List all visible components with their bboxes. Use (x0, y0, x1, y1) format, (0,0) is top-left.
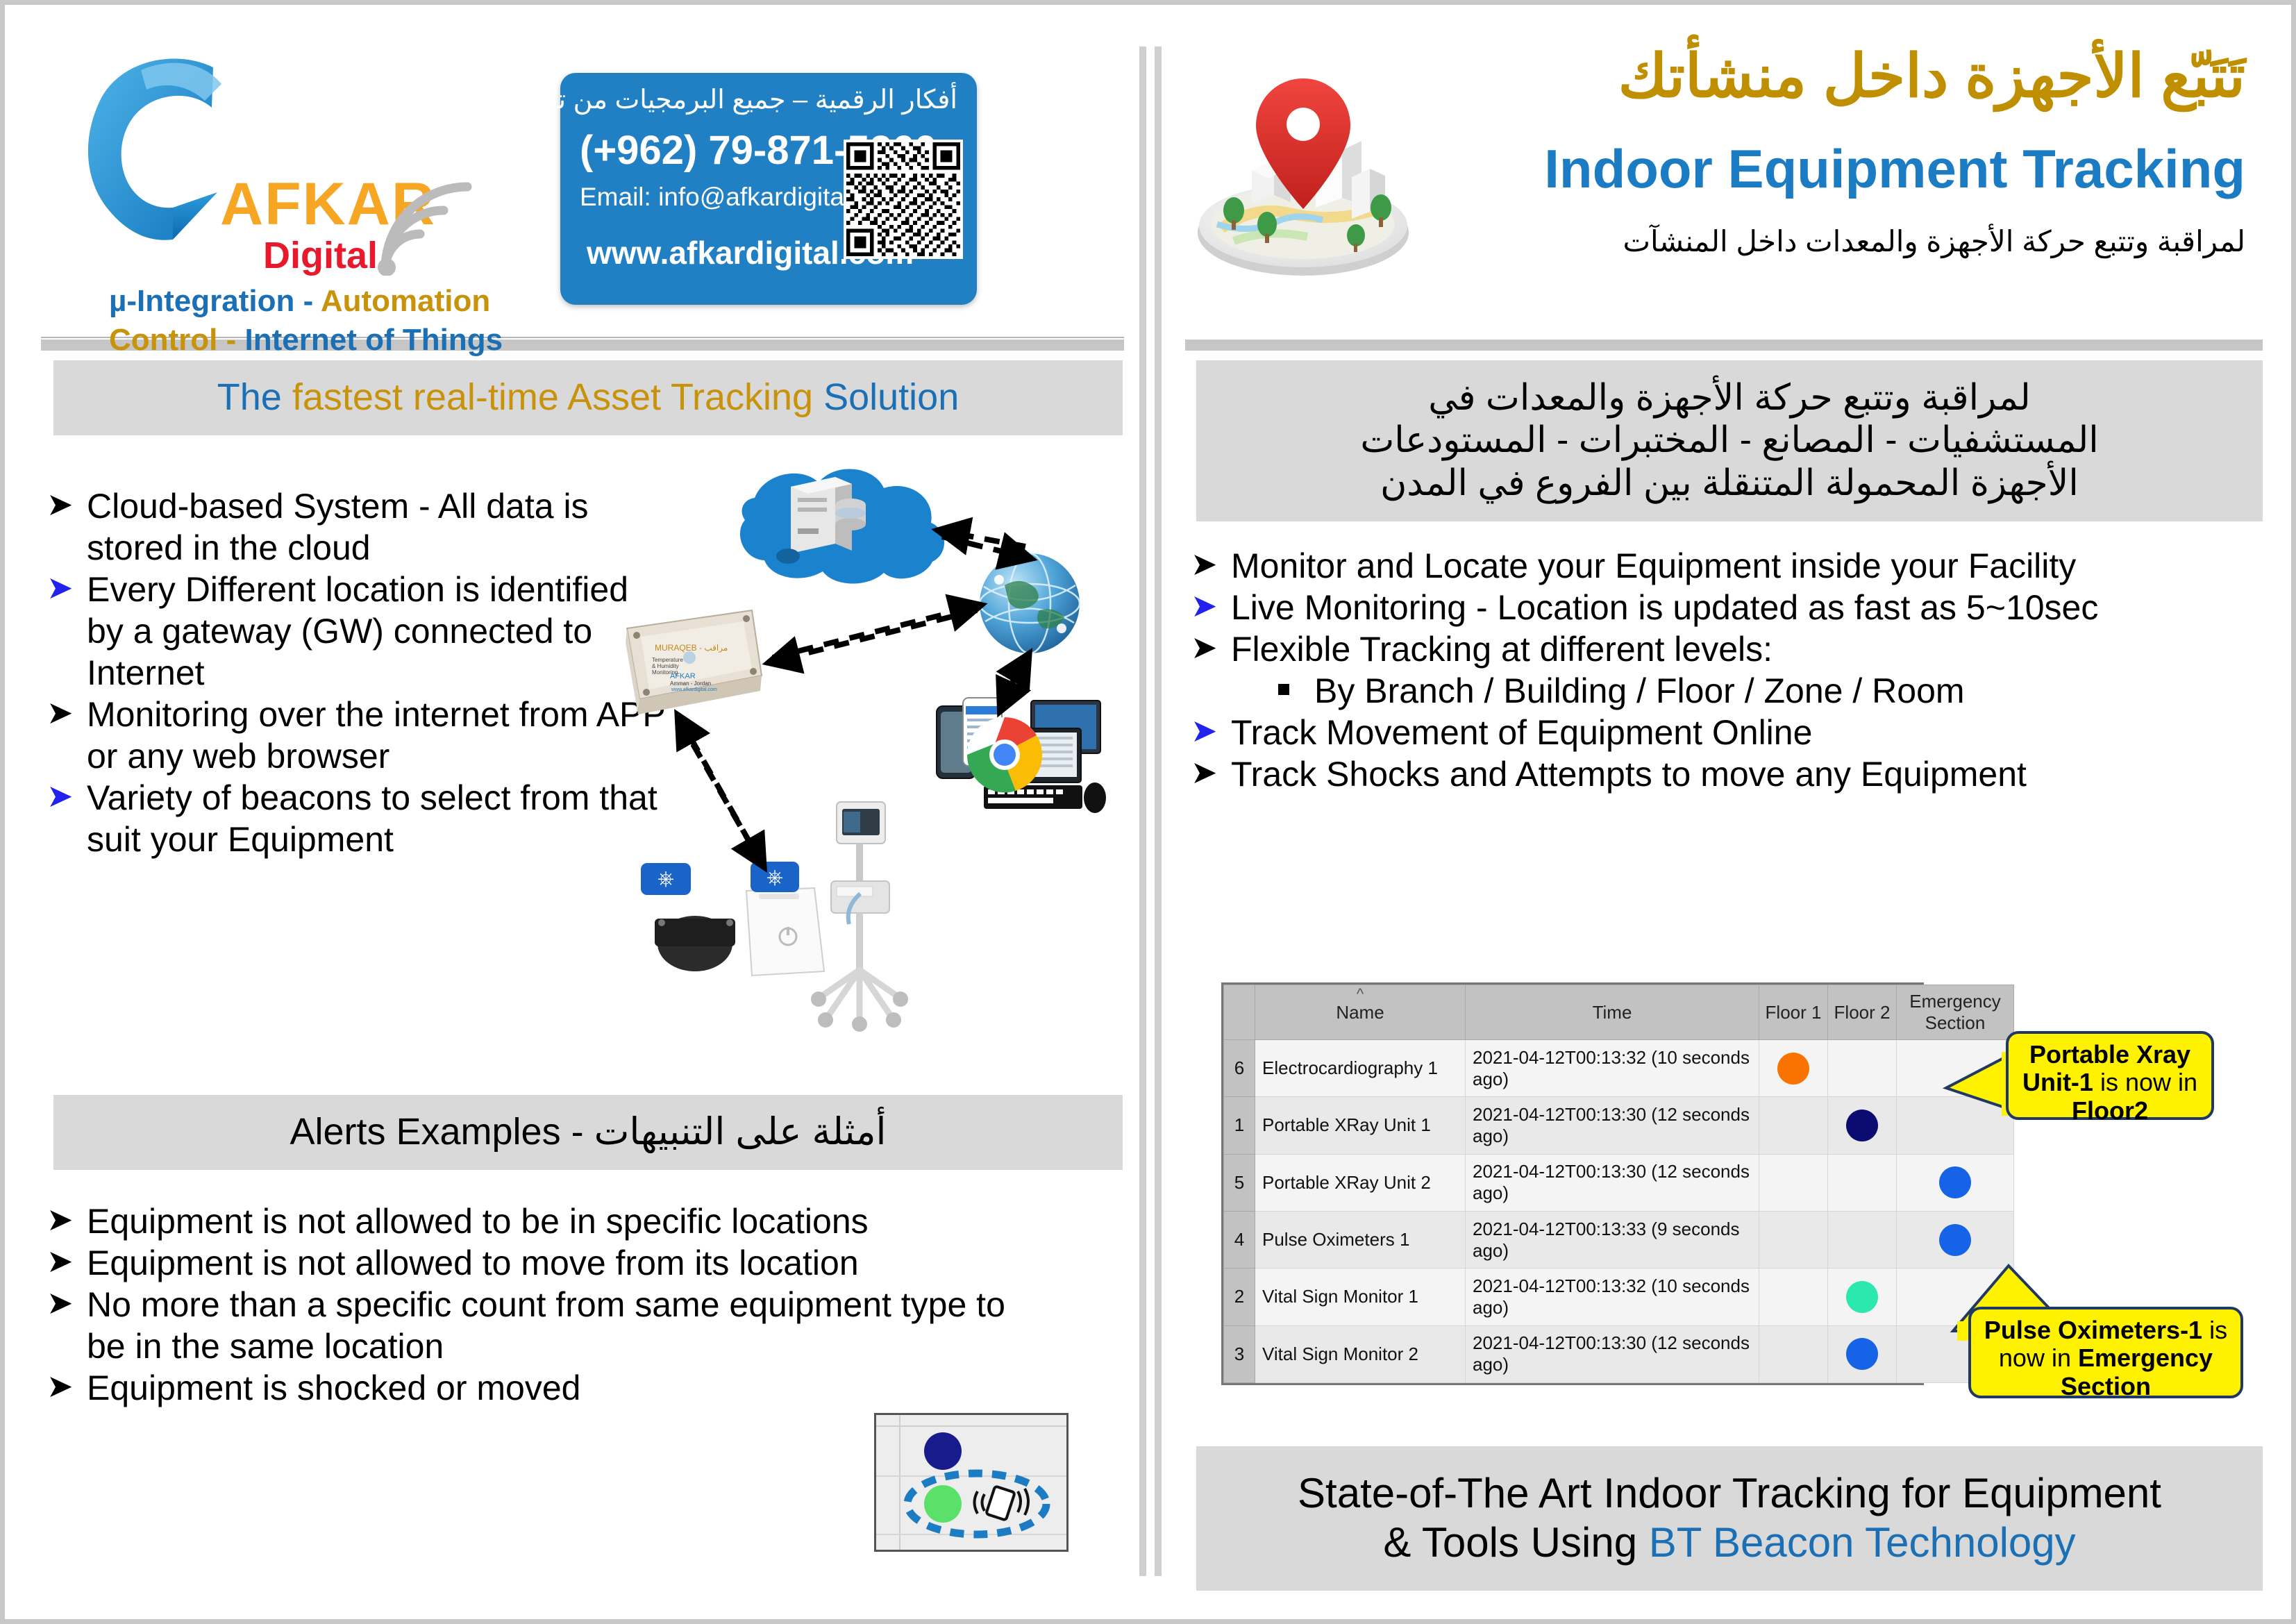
row-floor1 (1759, 1097, 1828, 1154)
table-row[interactable]: 6 Electrocardiography 1 2021-04-12T00:13… (1224, 1040, 2014, 1097)
row-index: 1 (1224, 1097, 1255, 1154)
right-feature-subitem-2: By Branch / Building / Floor / Zone / Ro… (1231, 670, 2268, 712)
header-arabic-title: تَتَبّع الأجهزة داخل منشأتك (1421, 45, 2245, 108)
column-header-emergency[interactable]: Emergency Section (1897, 985, 2014, 1040)
row-floor1 (1759, 1040, 1828, 1097)
left-feature-list: ➤ Cloud-based System - All data is store… (41, 485, 666, 860)
status-dot (1846, 1110, 1878, 1141)
tagline-sep-1: - (294, 284, 320, 318)
column-header-index[interactable] (1224, 985, 1255, 1040)
row-name: Vital Sign Monitor 2 (1255, 1325, 1466, 1382)
callout-portable-xray: Portable Xray Unit-1 is now in Floor2 (2006, 1031, 2214, 1120)
tagline-sep-2: - (217, 323, 244, 357)
tagline-integration: µ-Integration (109, 284, 294, 318)
row-name: Portable XRay Unit 1 (1255, 1097, 1466, 1154)
right-feature-item-4: ➤ Track Shocks and Attempts to move any … (1185, 753, 2268, 795)
left-feature-text-3: Variety of beacons to select from that s… (87, 778, 657, 859)
left-feature-text-1: Every Different location is identified b… (87, 570, 628, 692)
arrow-bullet-icon: ➤ (1191, 544, 1218, 585)
vertical-divider-right (1155, 47, 1162, 1576)
svg-text:AFKAR: AFKAR (670, 672, 696, 680)
medical-cart (811, 802, 908, 1032)
status-dot (1939, 1166, 1971, 1198)
row-floor2 (1828, 1154, 1897, 1211)
right-feature-text-4: Track Shocks and Attempts to move any Eq… (1231, 755, 2027, 794)
table-row[interactable]: 2 Vital Sign Monitor 1 2021-04-12T00:13:… (1224, 1269, 2014, 1325)
status-dot (1846, 1281, 1878, 1313)
row-index: 2 (1224, 1269, 1255, 1325)
right-feature-subtext-2: By Branch / Building / Floor / Zone / Ro… (1314, 671, 1965, 710)
row-name: Vital Sign Monitor 1 (1255, 1269, 1466, 1325)
alert-text-0: Equipment is not allowed to be in specif… (87, 1202, 869, 1241)
logo-tagline-line1: µ-Integration - Automation (109, 284, 490, 319)
row-floor1 (1759, 1325, 1828, 1382)
arrow-gateway-to-globe (773, 606, 977, 658)
bluetooth-beacon: ⎈ (641, 863, 735, 971)
right-band-line-2: الأجهزة المحمولة المتنقلة بين الفروع في … (1360, 462, 2098, 505)
left-feature-item-0: ➤ Cloud-based System - All data is store… (41, 485, 666, 569)
tagline-automation: Automation (321, 284, 490, 318)
column-header-time[interactable]: Time (1466, 985, 1759, 1040)
left-feature-text-0: Cloud-based System - All data is stored … (87, 487, 589, 567)
row-index: 5 (1224, 1154, 1255, 1211)
status-dot (1777, 1053, 1809, 1085)
svg-text:MURAQEB - مراقب: MURAQEB - مراقب (655, 643, 728, 653)
right-feature-text-0: Monitor and Locate your Equipment inside… (1231, 546, 2076, 585)
table-row[interactable]: 4 Pulse Oximeters 1 2021-04-12T00:13:33 … (1224, 1211, 2014, 1268)
tagline-control: Control (109, 323, 217, 357)
right-feature-text-3: Track Movement of Equipment Online (1231, 713, 1812, 752)
right-band-arabic: لمراقبة وتتبع حركة الأجهزة والمعدات في ا… (1196, 360, 2263, 521)
arrow-bullet-icon: ➤ (47, 1241, 74, 1282)
square-bullet-icon (1278, 684, 1289, 695)
left-band-part1: The (217, 376, 292, 418)
svg-text:Temperature: Temperature (652, 657, 683, 663)
gateway-device: MURAQEB - مراقب Temperature & Humidity M… (626, 610, 762, 714)
row-time: 2021-04-12T00:13:30 (12 seconds ago) (1466, 1325, 1759, 1382)
row-floor1 (1759, 1154, 1828, 1211)
row-emergency (1897, 1154, 2014, 1211)
svg-text:⎈: ⎈ (657, 867, 674, 890)
svg-text:⎈: ⎈ (766, 866, 783, 889)
left-feature-item-2: ➤ Monitoring over the internet from APP … (41, 694, 666, 777)
wifi-waves-icon (376, 171, 473, 276)
left-feature-text-2: Monitoring over the internet from APP or… (87, 695, 665, 776)
row-floor2 (1828, 1097, 1897, 1154)
vertical-divider-left (1139, 47, 1146, 1576)
right-band-line-0: لمراقبة وتتبع حركة الأجهزة والمعدات في (1360, 377, 2098, 419)
alert-text-3: Equipment is shocked or moved (87, 1368, 580, 1407)
alerts-list: ➤ Equipment is not allowed to be in spec… (41, 1200, 1048, 1409)
arrow-bullet-icon: ➤ (47, 568, 74, 608)
row-floor2 (1828, 1325, 1897, 1382)
arrow-bullet-icon: ➤ (1191, 711, 1218, 751)
alerts-band-arabic: أمثلة على التنبيهات (594, 1111, 887, 1153)
alert-item-1: ➤ Equipment is not allowed to move from … (41, 1242, 1048, 1284)
header-english-title: Indoor Equipment Tracking (1421, 141, 2245, 198)
alert-item-0: ➤ Equipment is not allowed to be in spec… (41, 1200, 1048, 1242)
internet-globe-icon (980, 553, 1080, 653)
equipment-tracking-table[interactable]: ^ Name Time Floor 1 Floor 2 Emergency Se… (1221, 982, 1924, 1385)
row-index: 4 (1224, 1211, 1255, 1268)
svg-text:& Humidity: & Humidity (652, 663, 679, 669)
right-feature-item-1: ➤ Live Monitoring - Location is updated … (1185, 587, 2268, 628)
arrow-bullet-icon: ➤ (1191, 753, 1218, 793)
row-name: Portable XRay Unit 2 (1255, 1154, 1466, 1211)
contact-phone[interactable]: (+962) 79-871-5260 (580, 127, 838, 174)
chevron-up-icon[interactable]: ^ (1357, 987, 1364, 1002)
callout-1-mid: is now in (2093, 1068, 2197, 1096)
cloud-server-icon (740, 469, 944, 583)
right-feature-item-3: ➤ Track Movement of Equipment Online (1185, 712, 2268, 753)
arrow-bullet-icon: ➤ (47, 1283, 74, 1323)
right-feature-text-2: Flexible Tracking at different levels: (1231, 630, 1773, 669)
alert-text-2: No more than a specific count from same … (87, 1285, 1005, 1366)
footer-line-1: State-of-The Art Indoor Tracking for Equ… (1298, 1469, 2161, 1518)
row-emergency (1897, 1211, 2014, 1268)
table-row[interactable]: 1 Portable XRay Unit 1 2021-04-12T00:13:… (1224, 1097, 2014, 1154)
dot-navy (924, 1432, 962, 1470)
svg-text:Amman - Jordan: Amman - Jordan (670, 680, 711, 687)
callout-1-bold2: Floor2 (2072, 1096, 2148, 1125)
left-feature-item-1: ➤ Every Different location is identified… (41, 569, 666, 694)
table-header-row: ^ Name Time Floor 1 Floor 2 Emergency Se… (1224, 985, 2014, 1040)
table-row[interactable]: 5 Portable XRay Unit 2 2021-04-12T00:13:… (1224, 1154, 2014, 1211)
row-time: 2021-04-12T00:13:32 (10 seconds ago) (1466, 1269, 1759, 1325)
right-band-line-1: المستشفيات - المصانع - المختبرات - المست… (1360, 419, 2098, 462)
alert-example-inset (874, 1413, 1069, 1552)
row-index: 6 (1224, 1040, 1255, 1097)
arrow-globe-to-devices (1002, 659, 1024, 708)
poster-root: AFKAR Digital µ-Integration - Automation… (0, 0, 2296, 1624)
status-dot (1846, 1338, 1878, 1370)
column-header-floor1[interactable]: Floor 1 (1759, 985, 1828, 1040)
callout-2-bold1: Pulse Oximeters-1 (1984, 1316, 2202, 1344)
right-feature-text-1: Live Monitoring - Location is updated as… (1231, 588, 2098, 627)
callout-pulse-oximeters: Pulse Oximeters-1 is now in Emergency Se… (1968, 1307, 2243, 1398)
left-band-part2: fastest real-time Asset Tracking (292, 376, 813, 418)
chrome-browser-icon (967, 717, 1042, 792)
contact-card: أفكار الرقمية – جميع البرمجيات من تطويرن… (560, 73, 977, 305)
alerts-band-english: Alerts Examples - (290, 1111, 594, 1153)
row-floor2 (1828, 1040, 1897, 1097)
row-time: 2021-04-12T00:13:32 (10 seconds ago) (1466, 1040, 1759, 1097)
alerts-band-title: Alerts Examples - أمثلة على التنبيهات (53, 1095, 1123, 1170)
arrow-bullet-icon: ➤ (1191, 586, 1218, 626)
left-feature-item-3: ➤ Variety of beacons to select from that… (41, 777, 666, 860)
dot-green (924, 1485, 962, 1523)
footer-line-2b: BT Beacon Technology (1649, 1519, 2076, 1566)
horizontal-divider-right (1185, 340, 2263, 351)
right-feature-item-0: ➤ Monitor and Locate your Equipment insi… (1185, 545, 2268, 587)
alert-item-2: ➤ No more than a specific count from sam… (41, 1284, 1048, 1367)
qr-code-icon[interactable] (844, 140, 963, 259)
phone-laptop-browser-icons (937, 698, 1106, 813)
left-band-title: The fastest real-time Asset Tracking Sol… (53, 360, 1123, 435)
row-name: Electrocardiography 1 (1255, 1040, 1466, 1097)
arrow-bullet-icon: ➤ (47, 1200, 74, 1240)
arrow-bullet-icon: ➤ (47, 693, 74, 733)
right-feature-list: ➤ Monitor and Locate your Equipment insi… (1185, 545, 2268, 795)
arrow-bullet-icon: ➤ (47, 776, 74, 817)
right-footer-band: State-of-The Art Indoor Tracking for Equ… (1196, 1446, 2263, 1591)
alert-item-3: ➤ Equipment is shocked or moved (41, 1367, 1048, 1409)
arrow-bullet-icon: ➤ (1191, 628, 1218, 668)
arrow-globe-to-gateway (773, 610, 977, 662)
bluetooth-card-beacon: ⎈ (746, 862, 824, 976)
row-time: 2021-04-12T00:13:33 (9 seconds ago) (1466, 1211, 1759, 1268)
status-dot (1939, 1224, 1971, 1256)
footer-line-2a: & Tools Using (1383, 1519, 1648, 1566)
tagline-iot: Internet of Things (245, 323, 503, 357)
column-header-name-label: Name (1336, 1002, 1384, 1023)
logo-tagline-line2: Control - Internet of Things (109, 323, 503, 358)
column-header-name[interactable]: ^ Name (1255, 985, 1466, 1040)
afkar-logo: AFKAR Digital µ-Integration - Automation… (55, 47, 541, 324)
row-index: 3 (1224, 1325, 1255, 1382)
row-name: Pulse Oximeters 1 (1255, 1211, 1466, 1268)
alert-text-1: Equipment is not allowed to move from it… (87, 1244, 859, 1282)
row-time: 2021-04-12T00:13:30 (12 seconds ago) (1466, 1097, 1759, 1154)
row-time: 2021-04-12T00:13:30 (12 seconds ago) (1466, 1154, 1759, 1211)
arrow-bullet-icon: ➤ (47, 1366, 74, 1407)
header-arabic-subtitle: لمراقبة وتتبع حركة الأجهزة والمعدات داخل… (1421, 226, 2245, 258)
table-row[interactable]: 3 Vital Sign Monitor 2 2021-04-12T00:13:… (1224, 1325, 2014, 1382)
row-floor1 (1759, 1269, 1828, 1325)
contact-arabic-line: أفكار الرقمية – جميع البرمجيات من تطويرن… (580, 84, 957, 115)
left-band-part3: Solution (813, 376, 959, 418)
column-header-floor2[interactable]: Floor 2 (1828, 985, 1897, 1040)
right-feature-item-2: ➤ Flexible Tracking at different levels:… (1185, 628, 2268, 712)
architecture-diagram: MURAQEB - مراقب Temperature & Humidity M… (616, 456, 1116, 1081)
logo-wordmark-digital: Digital (263, 234, 378, 277)
row-floor2 (1828, 1211, 1897, 1268)
svg-text:www.afkardigital.com: www.afkardigital.com (671, 687, 717, 692)
arrow-bullet-icon: ➤ (47, 485, 74, 525)
map-location-pin-icon (1185, 59, 1421, 288)
row-floor2 (1828, 1269, 1897, 1325)
row-floor1 (1759, 1211, 1828, 1268)
callout-2-bold2: Emergency Section (2061, 1343, 2213, 1400)
